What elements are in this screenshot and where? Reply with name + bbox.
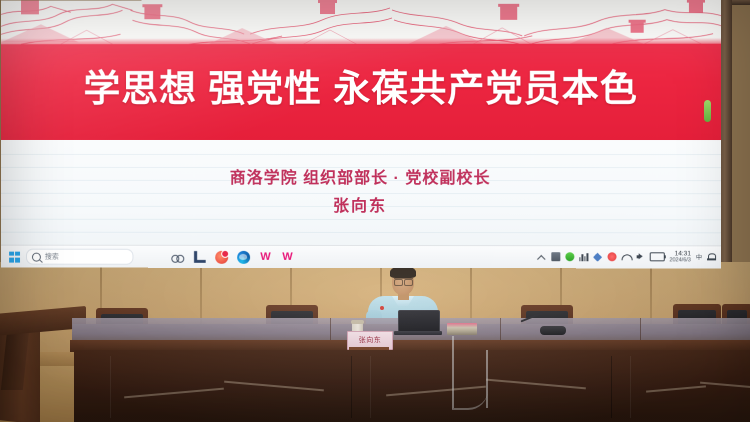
windows-taskbar[interactable]: 搜索 W W <box>1 245 721 269</box>
presenter-badge <box>380 306 384 310</box>
slide-subtitle-affiliation: 商洛学院 组织部部长 · 党校副校长 <box>1 164 721 188</box>
tray-app-icon[interactable] <box>551 253 560 262</box>
bicycle-icon[interactable] <box>171 250 184 263</box>
equalizer-icon[interactable] <box>579 253 588 262</box>
file-explorer-icon[interactable] <box>193 250 206 263</box>
search-input[interactable]: 搜索 <box>26 249 133 265</box>
projection-screen: 学思想 强党性 永葆共产党员本色 商洛学院 组织部部长 · 党校副校长 张向东 … <box>1 0 721 268</box>
paint-icon[interactable] <box>215 250 228 263</box>
taskbar-clock[interactable]: 14:31 2024/6/3 <box>669 251 691 264</box>
nameplate-stand <box>349 347 389 350</box>
slide-subtitle-name: 张向东 <box>1 192 721 216</box>
tray-red-icon[interactable] <box>607 253 616 262</box>
start-button-icon[interactable] <box>9 251 20 262</box>
books <box>447 323 477 335</box>
clock-date: 2024/6/3 <box>669 258 691 264</box>
edge-browser-icon[interactable] <box>237 250 250 263</box>
battery-icon[interactable] <box>649 253 664 262</box>
screenshot-root: 张向东 <box>0 0 750 422</box>
nameplate-text: 张向东 <box>359 337 382 344</box>
microphone-base <box>540 326 566 335</box>
wps-writer-icon[interactable]: W <box>281 250 294 263</box>
volume-icon[interactable] <box>635 253 644 262</box>
wifi-icon[interactable] <box>621 253 630 262</box>
search-placeholder: 搜索 <box>45 252 59 262</box>
tray-green-icon[interactable] <box>565 253 574 262</box>
search-icon <box>32 252 41 261</box>
ime-indicator[interactable]: 中 <box>696 253 702 262</box>
wps-icon[interactable]: W <box>259 250 272 263</box>
cup-lid <box>351 320 364 324</box>
glasses-icon <box>394 278 413 284</box>
notification-bell-icon[interactable] <box>707 253 715 262</box>
tray-blue-icon[interactable] <box>593 253 602 262</box>
chevron-up-icon[interactable] <box>537 253 546 262</box>
scroll-nub[interactable] <box>704 100 711 122</box>
slide-title: 学思想 强党性 永葆共产党员本色 <box>1 58 721 112</box>
laptop-base <box>394 331 442 335</box>
presentation-slide: 学思想 强党性 永葆共产党员本色 商洛学院 组织部部长 · 党校副校长 张向东 … <box>1 0 721 268</box>
